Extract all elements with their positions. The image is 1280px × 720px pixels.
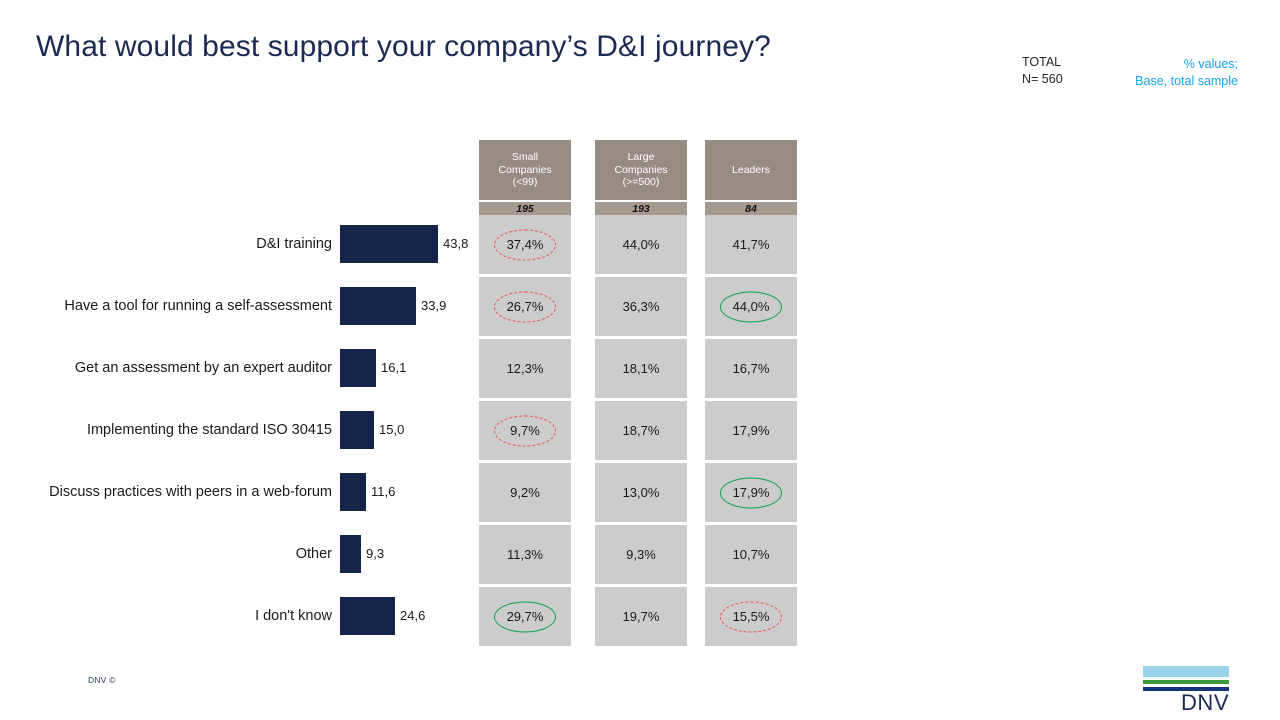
cell-value: 36,3% [623, 299, 660, 314]
bar-row: Other9,3 [0, 535, 478, 597]
matrix-cell: 9,2% [479, 463, 571, 522]
matrix-cell: 44,0% [595, 215, 687, 274]
bar-category-label: Get an assessment by an expert auditor [75, 349, 332, 387]
cell-value: 11,3% [507, 547, 543, 562]
bar-category-label: Implementing the standard ISO 30415 [87, 411, 332, 449]
cell-value: 12,3% [507, 361, 544, 376]
cell-value: 19,7% [623, 609, 660, 624]
matrix-cell: 11,3% [479, 525, 571, 584]
cell-value: 44,0% [623, 237, 660, 252]
column-header: LargeCompanies(>=500) [595, 140, 687, 200]
bar-row: Get an assessment by an expert auditor16… [0, 349, 478, 411]
cell-value: 44,0% [733, 299, 770, 314]
column-cells: 37,4%26,7%12,3%9,7%9,2%11,3%29,7% [479, 215, 571, 649]
matrix-cell: 10,7% [705, 525, 797, 584]
matrix-cell: 19,7% [595, 587, 687, 646]
cell-value: 15,5% [733, 609, 770, 624]
column-base-count: 195 [479, 202, 571, 215]
cell-value: 9,2% [510, 485, 540, 500]
cell-value: 18,1% [623, 361, 660, 376]
note-line-2: Base, total sample [940, 73, 1238, 90]
dnv-logo: DNV [1143, 666, 1229, 708]
cell-value: 29,7% [507, 609, 544, 624]
cell-value: 16,7% [733, 361, 770, 376]
column-header-line: Large [614, 151, 667, 164]
column-header: SmallCompanies(<99) [479, 140, 571, 200]
bar-category-label: Discuss practices with peers in a web-fo… [49, 473, 332, 511]
matrix-cell: 18,1% [595, 339, 687, 398]
bar-value-label: 11,6 [371, 473, 395, 511]
bar [340, 225, 438, 263]
bar [340, 597, 395, 635]
column-header-line: Companies [498, 164, 551, 177]
bar-category-label: I don't know [255, 597, 332, 635]
bar-value-label: 43,8 [443, 225, 468, 263]
note-block: % values; Base, total sample [940, 56, 1238, 90]
column-header-line: Leaders [732, 164, 770, 177]
bar-row: Implementing the standard ISO 3041515,0 [0, 411, 478, 473]
bar [340, 287, 416, 325]
matrix-cell: 17,9% [705, 463, 797, 522]
bar-row: Have a tool for running a self-assessmen… [0, 287, 478, 349]
matrix-cell: 9,7% [479, 401, 571, 460]
total-block: TOTAL N= 560 [1022, 54, 1063, 88]
bar-row: I don't know24,6 [0, 597, 478, 659]
column-base-count: 84 [705, 202, 797, 215]
bar-chart: D&I training43,8Have a tool for running … [0, 225, 478, 650]
matrix-cell: 26,7% [479, 277, 571, 336]
bar [340, 535, 361, 573]
matrix-cell: 36,3% [595, 277, 687, 336]
column-base-count: 193 [595, 202, 687, 215]
cell-value: 17,9% [733, 485, 770, 500]
column-cells: 44,0%36,3%18,1%18,7%13,0%9,3%19,7% [595, 215, 687, 649]
total-n-value: N= 560 [1022, 71, 1063, 88]
matrix-cell: 37,4% [479, 215, 571, 274]
bar-category-label: Other [296, 535, 332, 573]
bar-category-label: D&I training [256, 225, 332, 263]
footer-copyright: DNV © [88, 675, 116, 685]
logo-bar-green [1143, 680, 1229, 684]
cell-value: 37,4% [507, 237, 544, 252]
logo-bar-lightblue [1143, 666, 1229, 677]
matrix-cell: 15,5% [705, 587, 797, 646]
total-label: TOTAL [1022, 54, 1063, 71]
matrix-cell: 13,0% [595, 463, 687, 522]
column-header-line: Small [498, 151, 551, 164]
bar [340, 411, 374, 449]
matrix-cell: 16,7% [705, 339, 797, 398]
bar-value-label: 9,3 [366, 535, 384, 573]
cell-value: 26,7% [507, 299, 544, 314]
matrix-cell: 44,0% [705, 277, 797, 336]
matrix-cell: 18,7% [595, 401, 687, 460]
matrix-cell: 41,7% [705, 215, 797, 274]
column-cells: 41,7%44,0%16,7%17,9%17,9%10,7%15,5% [705, 215, 797, 649]
bar-row: Discuss practices with peers in a web-fo… [0, 473, 478, 535]
bar-value-label: 24,6 [400, 597, 425, 635]
cell-value: 9,3% [626, 547, 656, 562]
cell-value: 17,9% [733, 423, 770, 438]
logo-wordmark: DNV [1143, 691, 1229, 715]
cell-value: 18,7% [623, 423, 660, 438]
column-header-line: (>=500) [614, 176, 667, 189]
matrix-cell: 17,9% [705, 401, 797, 460]
bar-value-label: 33,9 [421, 287, 446, 325]
cell-value: 13,0% [623, 485, 660, 500]
matrix-cell: 12,3% [479, 339, 571, 398]
bar-value-label: 16,1 [381, 349, 406, 387]
bar-row: D&I training43,8 [0, 225, 478, 287]
cell-value: 10,7% [733, 547, 770, 562]
matrix-cell: 9,3% [595, 525, 687, 584]
column-header-line: Companies [614, 164, 667, 177]
column-header-line: (<99) [498, 176, 551, 189]
page-title: What would best support your company’s D… [36, 30, 986, 64]
bar-category-label: Have a tool for running a self-assessmen… [64, 287, 332, 325]
comparison-matrix: SmallCompanies(<99)19537,4%26,7%12,3%9,7… [479, 140, 799, 652]
column-header: Leaders [705, 140, 797, 200]
bar [340, 473, 366, 511]
matrix-cell: 29,7% [479, 587, 571, 646]
note-line-1: % values; [940, 56, 1238, 73]
cell-value: 41,7% [733, 237, 770, 252]
bar [340, 349, 376, 387]
cell-value: 9,7% [510, 423, 540, 438]
bar-value-label: 15,0 [379, 411, 404, 449]
